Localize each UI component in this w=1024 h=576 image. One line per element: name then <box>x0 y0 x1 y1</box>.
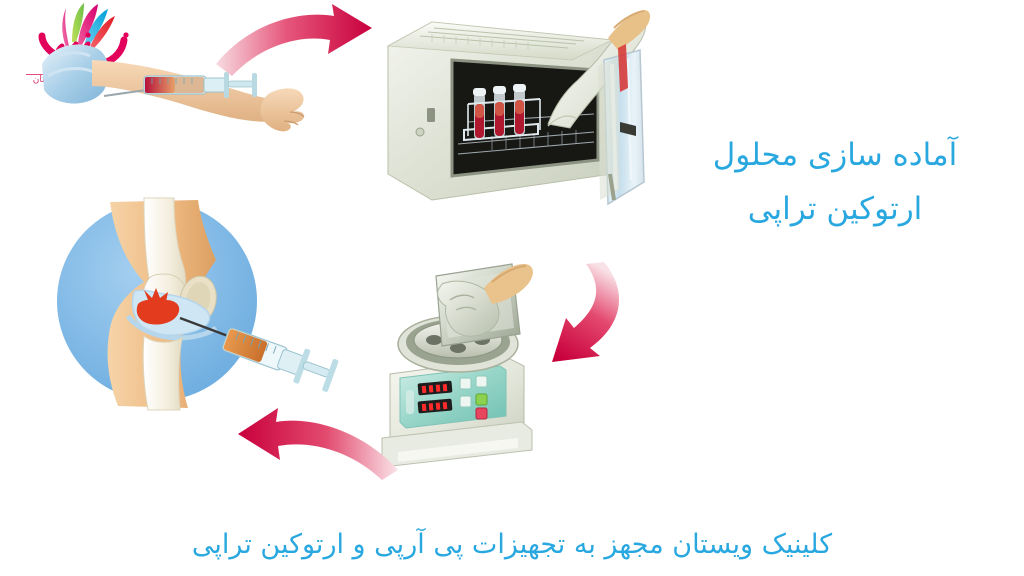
step-centrifuge-illustration <box>372 262 592 477</box>
arrow-top-right-icon <box>212 2 392 94</box>
page-title-line2: ارتوکین تراپی <box>670 182 1000 236</box>
step-knee-injection-illustration <box>52 196 337 411</box>
step-incubator-illustration <box>372 4 652 226</box>
slide-canvas: گروه پزشکی ویستان <box>0 0 1024 576</box>
footer-caption: کلینیک ویستان مجهز به تجهیزات پی آرپی و … <box>0 528 1024 562</box>
page-title: آماده سازی محلول ارتوکین تراپی <box>670 128 1000 237</box>
page-title-line1: آماده سازی محلول <box>713 137 958 173</box>
